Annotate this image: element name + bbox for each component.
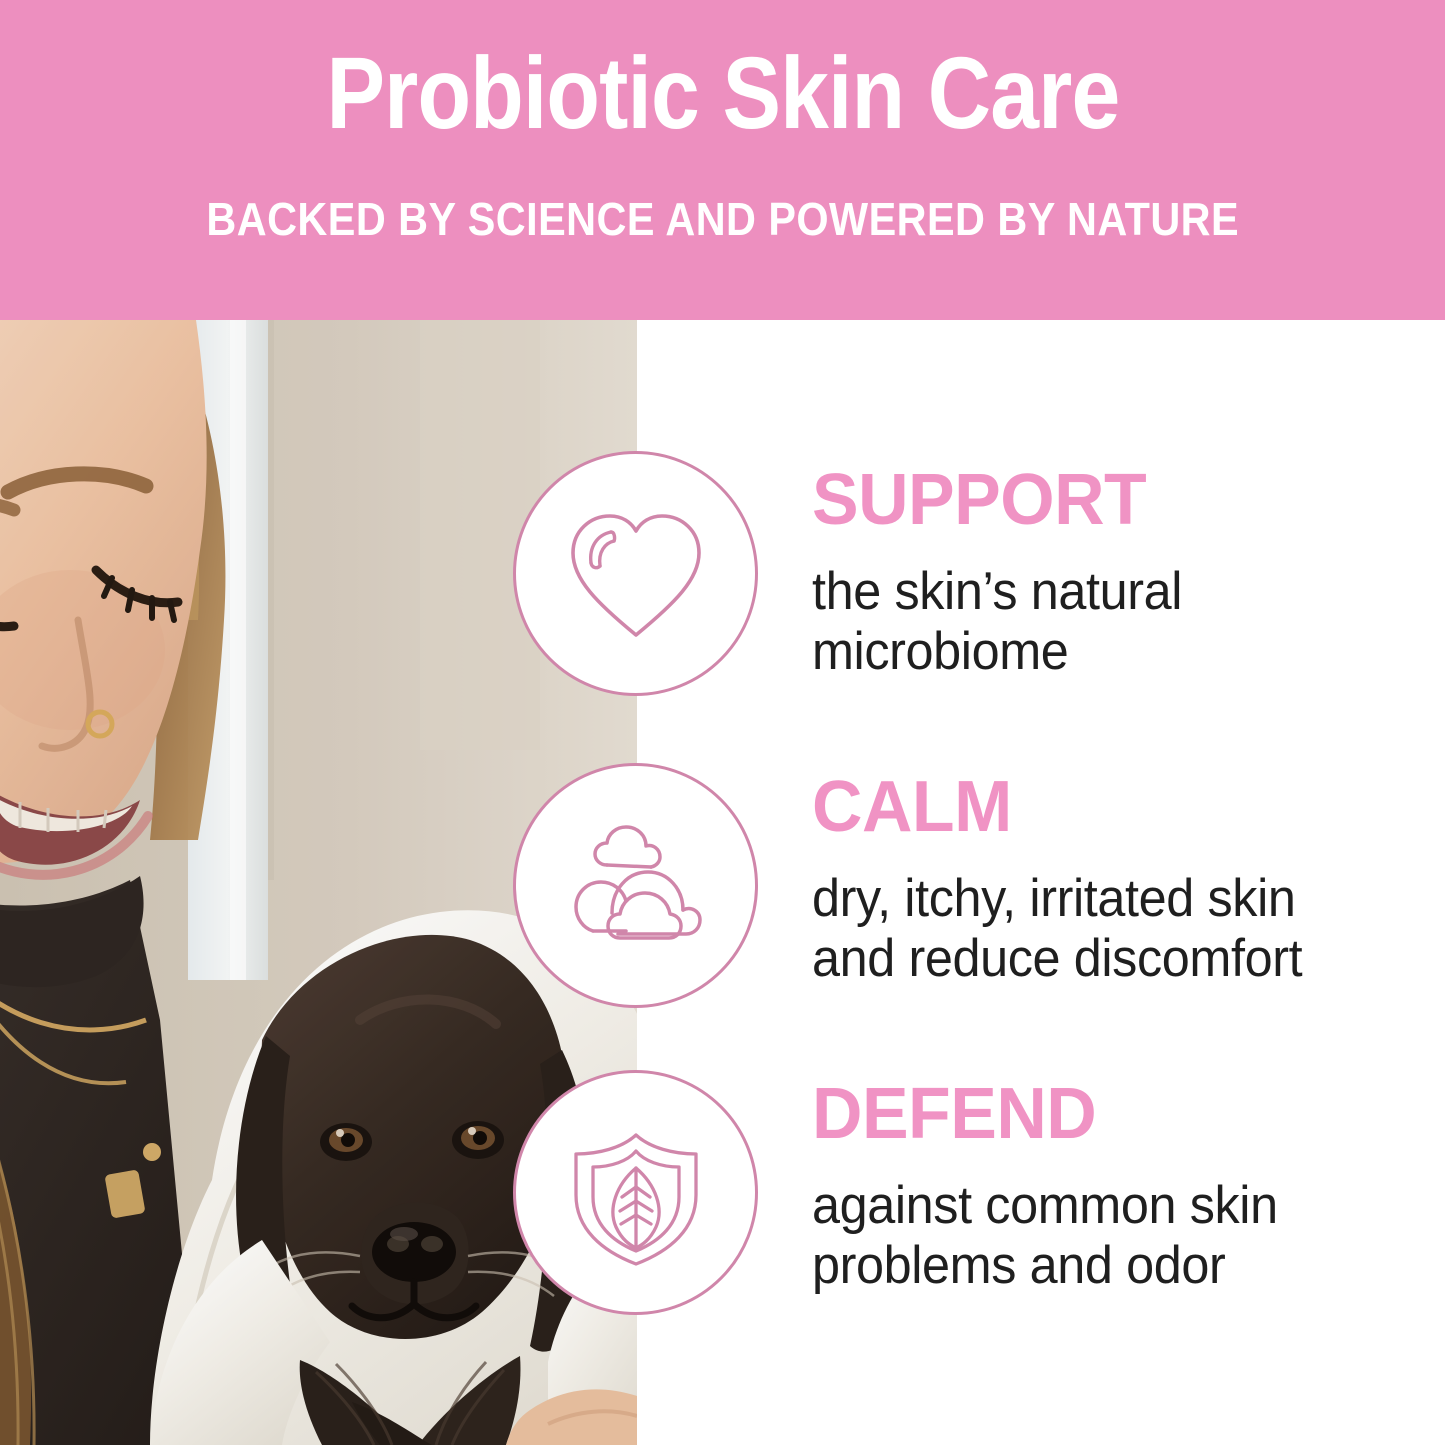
feature-calm-heading: CALM (812, 771, 1413, 843)
feature-calm-body: dry, itchy, irritated skin and reduce di… (812, 869, 1401, 989)
banner-subtitle: BACKED BY SCIENCE AND POWERED BY NATURE (206, 192, 1239, 246)
clouds-icon (513, 763, 758, 1008)
banner-title: Probiotic Skin Care (326, 42, 1119, 144)
probiotic-skin-care-poster: Probiotic Skin Care BACKED BY SCIENCE AN… (0, 0, 1445, 1445)
feature-support-body: the skin’s natural microbiome (812, 562, 1401, 682)
shield-leaf-icon (513, 1070, 758, 1315)
feature-defend-heading: DEFEND (812, 1078, 1413, 1150)
feature-support-heading: SUPPORT (812, 464, 1413, 536)
heart-icon (513, 451, 758, 696)
feature-defend-text: DEFEND against common skin problems and … (812, 1078, 1432, 1296)
feature-defend-body: against common skin problems and odor (812, 1176, 1401, 1296)
feature-calm-text: CALM dry, itchy, irritated skin and redu… (812, 771, 1432, 989)
feature-support-text: SUPPORT the skin’s natural microbiome (812, 464, 1432, 682)
header-banner: Probiotic Skin Care BACKED BY SCIENCE AN… (0, 0, 1445, 320)
